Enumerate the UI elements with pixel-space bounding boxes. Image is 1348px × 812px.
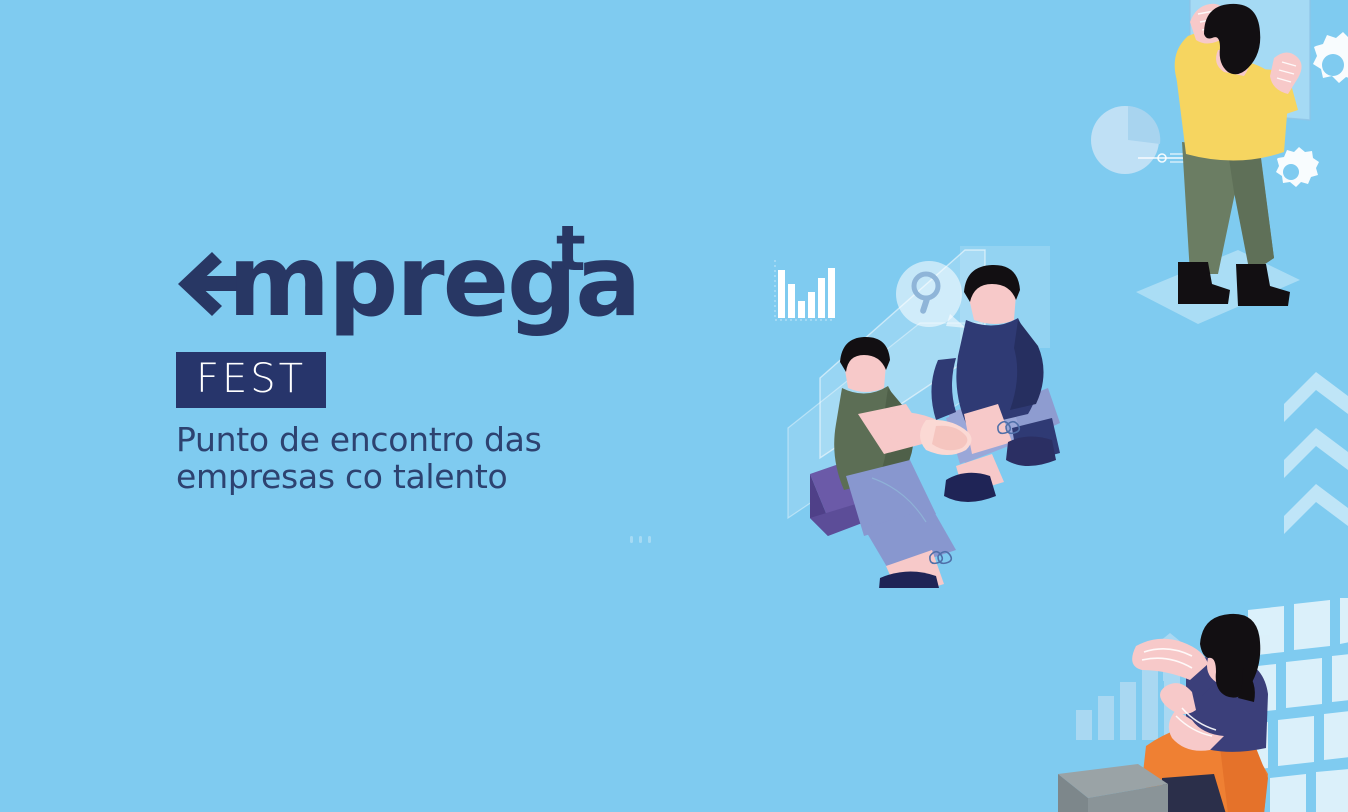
faint-dots-decoration: [630, 536, 660, 544]
tagline-line-1: Punto de encontro das: [176, 421, 696, 458]
gear-icon: [1313, 32, 1348, 83]
handshake-illustration: [760, 228, 1070, 588]
pie-chart-icon: [1091, 106, 1190, 174]
poster-canvas: mprega t FEST Punto de encontro das empr…: [0, 0, 1348, 812]
tagline: Punto de encontro das empresas co talent…: [176, 421, 696, 495]
gear-icon: [1276, 147, 1319, 187]
brand-block: mprega: [176, 228, 736, 336]
stacked-chevrons-decoration: [1282, 368, 1348, 550]
bar-chart-icon: [775, 260, 835, 320]
tagline-line-2: empresas co talento: [176, 458, 696, 495]
woman-at-grid-illustration: [1058, 598, 1348, 812]
fest-badge: FEST: [176, 352, 326, 408]
wordmark-superscript: t: [556, 218, 586, 280]
woman-at-screen-illustration: [1078, 0, 1348, 340]
fest-badge-label: FEST: [196, 359, 306, 399]
